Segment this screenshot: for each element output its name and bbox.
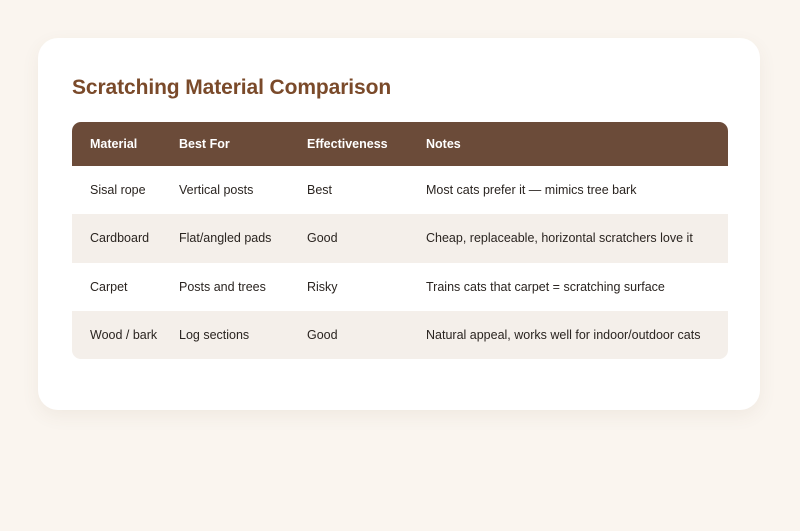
cell-effectiveness: Good <box>307 311 426 359</box>
cell-best-for: Flat/angled pads <box>179 214 307 262</box>
cell-effectiveness: Good <box>307 214 426 262</box>
column-header-effectiveness: Effectiveness <box>307 122 426 166</box>
column-header-notes: Notes <box>426 122 728 166</box>
cell-material: Cardboard <box>72 214 179 262</box>
cell-effectiveness: Risky <box>307 263 426 311</box>
cell-notes: Natural appeal, works well for indoor/ou… <box>426 311 728 359</box>
cell-notes: Trains cats that carpet = scratching sur… <box>426 263 728 311</box>
column-header-material: Material <box>72 122 179 166</box>
table-body: Sisal rope Vertical posts Best Most cats… <box>72 166 728 359</box>
cell-material: Sisal rope <box>72 166 179 214</box>
cell-best-for: Vertical posts <box>179 166 307 214</box>
column-header-best-for: Best For <box>179 122 307 166</box>
cell-notes: Most cats prefer it — mimics tree bark <box>426 166 728 214</box>
comparison-table-container: Material Best For Effectiveness Notes Si… <box>72 122 728 359</box>
comparison-card: Scratching Material Comparison Material … <box>38 38 760 410</box>
table-row: Wood / bark Log sections Good Natural ap… <box>72 311 728 359</box>
cell-material: Carpet <box>72 263 179 311</box>
cell-best-for: Posts and trees <box>179 263 307 311</box>
table-header: Material Best For Effectiveness Notes <box>72 122 728 166</box>
cell-material: Wood / bark <box>72 311 179 359</box>
cell-notes: Cheap, replaceable, horizontal scratcher… <box>426 214 728 262</box>
table-header-row: Material Best For Effectiveness Notes <box>72 122 728 166</box>
cell-effectiveness: Best <box>307 166 426 214</box>
page-title: Scratching Material Comparison <box>72 76 391 100</box>
table-row: Cardboard Flat/angled pads Good Cheap, r… <box>72 214 728 262</box>
scratching-material-comparison-table: Material Best For Effectiveness Notes Si… <box>72 122 728 359</box>
table-row: Carpet Posts and trees Risky Trains cats… <box>72 263 728 311</box>
cell-best-for: Log sections <box>179 311 307 359</box>
table-row: Sisal rope Vertical posts Best Most cats… <box>72 166 728 214</box>
